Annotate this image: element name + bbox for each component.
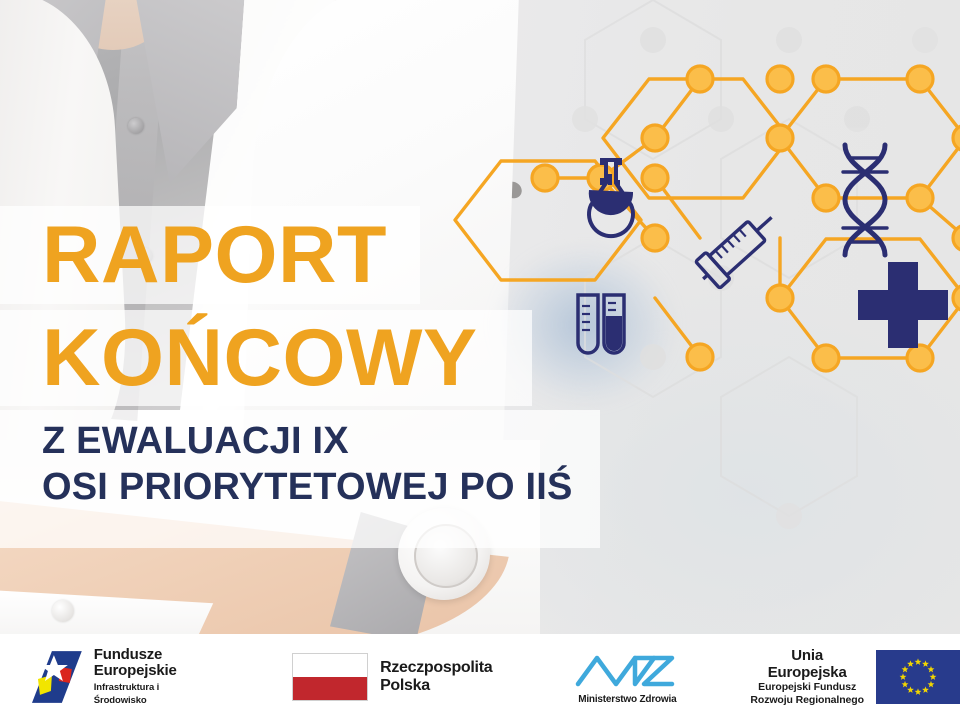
logo-unia-europejska: Unia Europejska Europejski Fundusz Rozwo…	[750, 647, 960, 707]
poland-flag-icon	[292, 653, 368, 701]
background-photo: RAPORT KOŃCOWY Z EWALUACJI IX OSI PRIORY…	[0, 0, 960, 634]
fundusze-europejskie-text: Fundusze Europejskie Infrastruktura i Śr…	[94, 647, 214, 707]
ue-line-1: Unia Europejska	[750, 647, 864, 681]
ministerstwo-zdrowia-icon	[572, 650, 682, 692]
mz-caption: Ministerstwo Zdrowia	[578, 694, 676, 705]
fundusze-europejskie-icon	[30, 649, 84, 705]
subtitle: Z EWALUACJI IX OSI PRIORYTETOWEJ PO IIŚ	[42, 418, 573, 511]
logo-ministerstwo-zdrowia: Ministerstwo Zdrowia	[572, 650, 682, 705]
ue-line-2: Europejski Fundusz	[750, 681, 864, 694]
subtitle-line-2: OSI PRIORYTETOWEJ PO IIŚ	[42, 464, 573, 510]
title-line-1: RAPORT	[42, 215, 387, 296]
unia-europejska-text: Unia Europejska Europejski Fundusz Rozwo…	[750, 647, 864, 707]
eu-flag-icon	[876, 650, 960, 704]
rzeczpospolita-text: Rzeczpospolita Polska	[380, 659, 492, 695]
subtitle-line-1: Z EWALUACJI IX	[42, 418, 573, 464]
rp-line-2: Polska	[380, 677, 492, 695]
medical-cross-icon	[858, 262, 948, 348]
flag-stripe-white	[293, 654, 367, 677]
title-line-2: KOŃCOWY	[42, 318, 477, 399]
fe-line-1: Fundusze	[94, 647, 214, 663]
logo-rzeczpospolita-polska: Rzeczpospolita Polska	[292, 653, 492, 701]
ue-line-3: Rozwoju Regionalnego	[750, 694, 864, 707]
report-cover-poster: RAPORT KOŃCOWY Z EWALUACJI IX OSI PRIORY…	[0, 0, 960, 720]
fe-line-2: Europejskie	[94, 663, 214, 679]
logo-fundusze-europejskie: Fundusze Europejskie Infrastruktura i Śr…	[30, 647, 214, 707]
rp-line-1: Rzeczpospolita	[380, 659, 492, 677]
flag-stripe-red	[293, 677, 367, 700]
fe-line-3: Infrastruktura i Środowisko	[94, 681, 214, 707]
footer-logo-bar: Fundusze Europejskie Infrastruktura i Śr…	[0, 634, 960, 720]
